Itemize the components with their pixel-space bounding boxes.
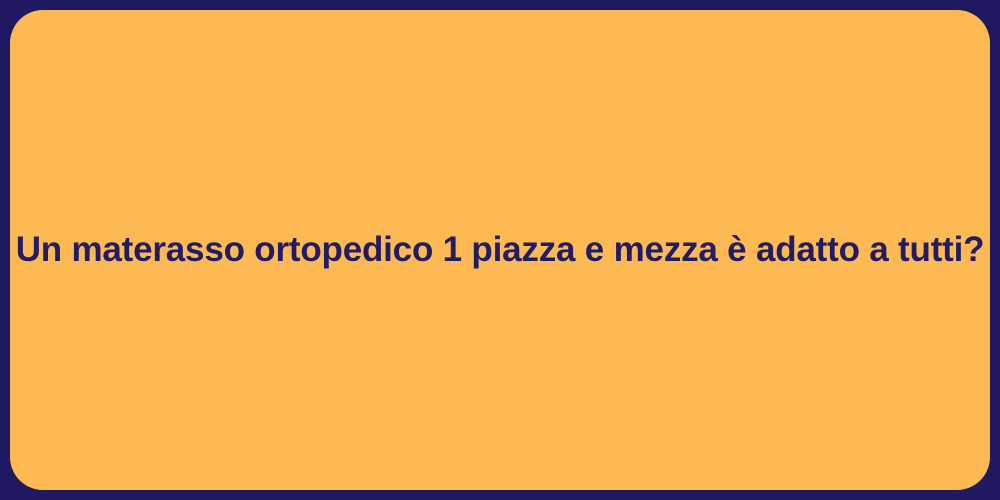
question-card-panel: Un materasso ortopedico 1 piazza e mezza… bbox=[10, 10, 990, 490]
card-frame: Un materasso ortopedico 1 piazza e mezza… bbox=[0, 0, 1000, 500]
question-heading: Un materasso ortopedico 1 piazza e mezza… bbox=[16, 228, 985, 272]
